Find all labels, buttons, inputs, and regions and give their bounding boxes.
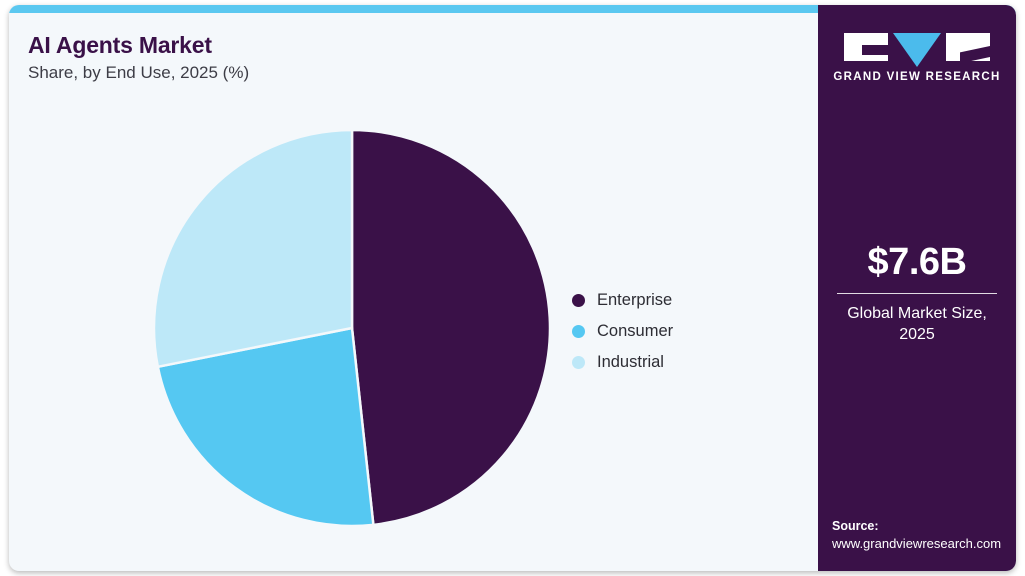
pie-slice[interactable]: [352, 130, 550, 525]
legend-label: Consumer: [597, 322, 673, 341]
market-size-stat: $7.6B Global Market Size, 2025: [818, 243, 1016, 346]
page-subtitle: Share, by End Use, 2025 (%): [28, 63, 249, 83]
logo-v-triangle-icon: [893, 33, 941, 67]
legend-label: Enterprise: [597, 291, 672, 310]
chart-area: AI Agents Market Share, by End Use, 2025…: [9, 13, 818, 571]
pie-svg: [152, 128, 552, 528]
legend-item[interactable]: Industrial: [572, 347, 792, 378]
logo-g-icon: [844, 33, 888, 61]
source-url[interactable]: www.grandviewresearch.com: [832, 535, 1016, 554]
legend-item[interactable]: Consumer: [572, 316, 792, 347]
legend-swatch-icon: [572, 356, 585, 369]
pie-slice[interactable]: [154, 130, 352, 367]
legend-item[interactable]: Enterprise: [572, 285, 792, 316]
stat-divider: [837, 293, 997, 294]
legend-label: Industrial: [597, 353, 664, 372]
source-block: Source: www.grandviewresearch.com: [832, 517, 1016, 554]
legend-swatch-icon: [572, 294, 585, 307]
logo-r-icon: [946, 33, 990, 61]
logo-marks: [818, 33, 1016, 63]
source-label: Source:: [832, 517, 1016, 535]
pie-chart: [152, 128, 552, 528]
chart-card: AI Agents Market Share, by End Use, 2025…: [9, 5, 1016, 571]
page-title: AI Agents Market: [28, 32, 212, 59]
chart-legend: EnterpriseConsumerIndustrial: [572, 285, 792, 378]
legend-swatch-icon: [572, 325, 585, 338]
logo-wordmark: GRAND VIEW RESEARCH: [818, 71, 1016, 83]
side-panel: GRAND VIEW RESEARCH $7.6B Global Market …: [818, 5, 1016, 571]
gvr-logo: GRAND VIEW RESEARCH: [818, 33, 1016, 83]
stat-value: $7.6B: [818, 243, 1016, 283]
stat-caption: Global Market Size, 2025: [818, 303, 1016, 346]
